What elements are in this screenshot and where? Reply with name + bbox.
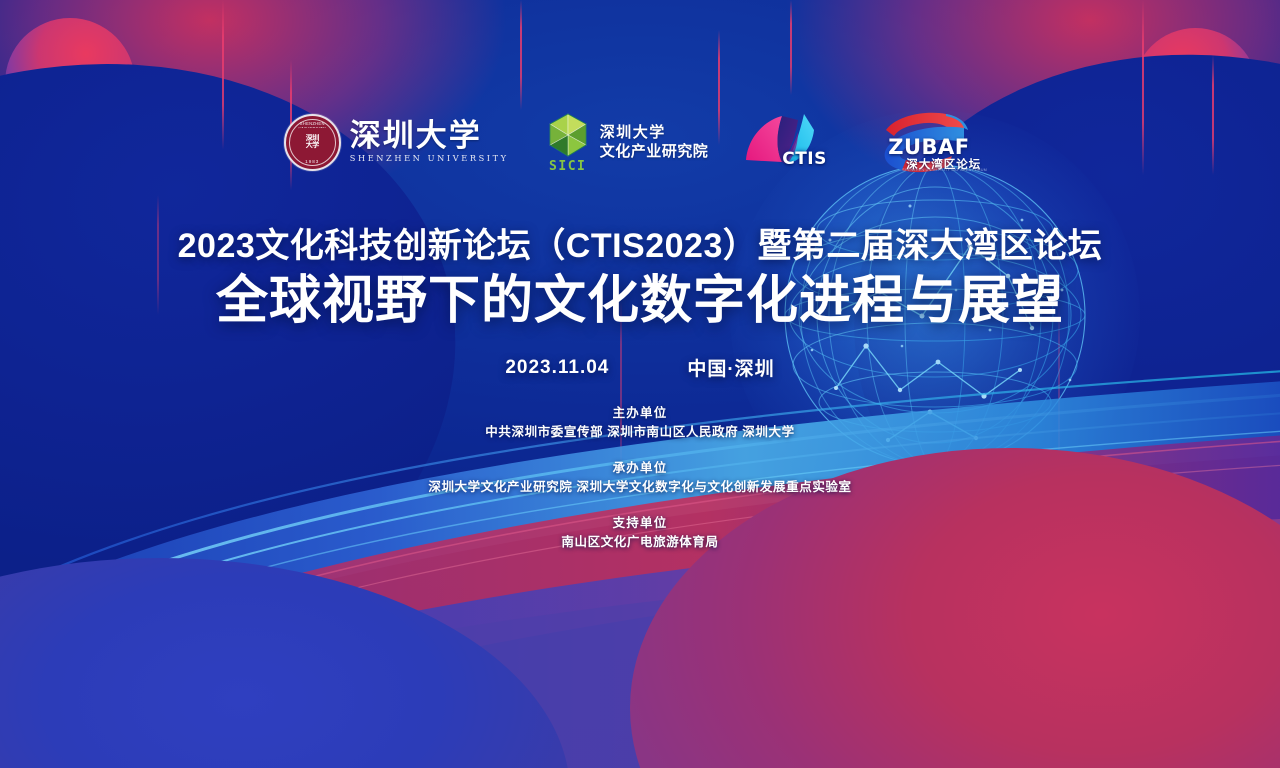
organizers-block: 主办单位 中共深圳市委宣传部 深圳市南山区人民政府 深圳大学 承办单位 深圳大学… xyxy=(0,404,1280,552)
logo-sici: SICI 深圳大学 文化产业研究院 xyxy=(543,111,709,173)
organizer-names: 中共深圳市委宣传部 深圳市南山区人民政府 深圳大学 xyxy=(0,423,1280,442)
organizer-label: 承办单位 xyxy=(0,459,1280,478)
sici-line2: 文化产业研究院 xyxy=(600,143,709,160)
page-title-line2: 全球视野下的文化数字化进程与展望 xyxy=(0,270,1280,332)
logo-shenzhen-university: SHENZHEN UNIVERSITY 深圳大学 1983 深圳大学 SHENZ… xyxy=(284,114,509,171)
ctis-mark-text: CTIS xyxy=(782,149,827,169)
organizer-group: 承办单位 深圳大学文化产业研究院 深圳大学文化数字化与文化创新发展重点实验室 xyxy=(0,459,1280,497)
sici-line1: 深圳大学 xyxy=(600,124,709,141)
sici-mark-text: SICI xyxy=(549,160,586,173)
sici-hexagon-icon xyxy=(543,111,593,159)
organizer-label: 支持单位 xyxy=(0,514,1280,533)
poster-canvas: SHENZHEN UNIVERSITY 深圳大学 1983 深圳大学 SHENZ… xyxy=(0,0,1280,768)
page-title-line1: 2023文化科技创新论坛（CTIS2023）暨第二届深大湾区论坛 xyxy=(0,224,1280,268)
szubaf-name-en: SHENZHEN UNIVERSITY BAY AREA FORUM xyxy=(902,168,987,172)
szu-name-en: SHENZHEN UNIVERSITY xyxy=(350,153,509,164)
sici-mark: SICI xyxy=(543,111,593,173)
title-block: 2023文化科技创新论坛（CTIS2023）暨第二届深大湾区论坛 全球视野下的文… xyxy=(0,224,1280,332)
event-location: 中国·深圳 xyxy=(687,354,774,381)
organizer-group: 主办单位 中共深圳市委宣传部 深圳市南山区人民政府 深圳大学 xyxy=(0,404,1280,442)
logo-szubaf: ZUBAF 深大湾区论坛 SHENZHEN UNIVERSITY BAY ARE… xyxy=(872,108,996,176)
szu-name-cn: 深圳大学 xyxy=(350,120,509,153)
szu-seal-icon: SHENZHEN UNIVERSITY 深圳大学 1983 xyxy=(284,114,341,171)
seal-arc-bottom: 1983 xyxy=(286,159,339,164)
organizer-group: 支持单位 南山区文化广电旅游体育局 xyxy=(0,514,1280,552)
organizer-names: 深圳大学文化产业研究院 深圳大学文化数字化与文化创新发展重点实验室 xyxy=(0,478,1280,497)
logo-row: SHENZHEN UNIVERSITY 深圳大学 1983 深圳大学 SHENZ… xyxy=(0,108,1280,176)
logo-ctis: CTIS xyxy=(742,110,838,174)
event-meta-row: 2023.11.04 中国·深圳 xyxy=(0,354,1280,381)
event-date: 2023.11.04 xyxy=(505,357,609,379)
seal-inner-characters: 深圳大学 xyxy=(298,128,327,157)
organizer-names: 南山区文化广电旅游体育局 xyxy=(0,533,1280,552)
organizer-label: 主办单位 xyxy=(0,404,1280,423)
